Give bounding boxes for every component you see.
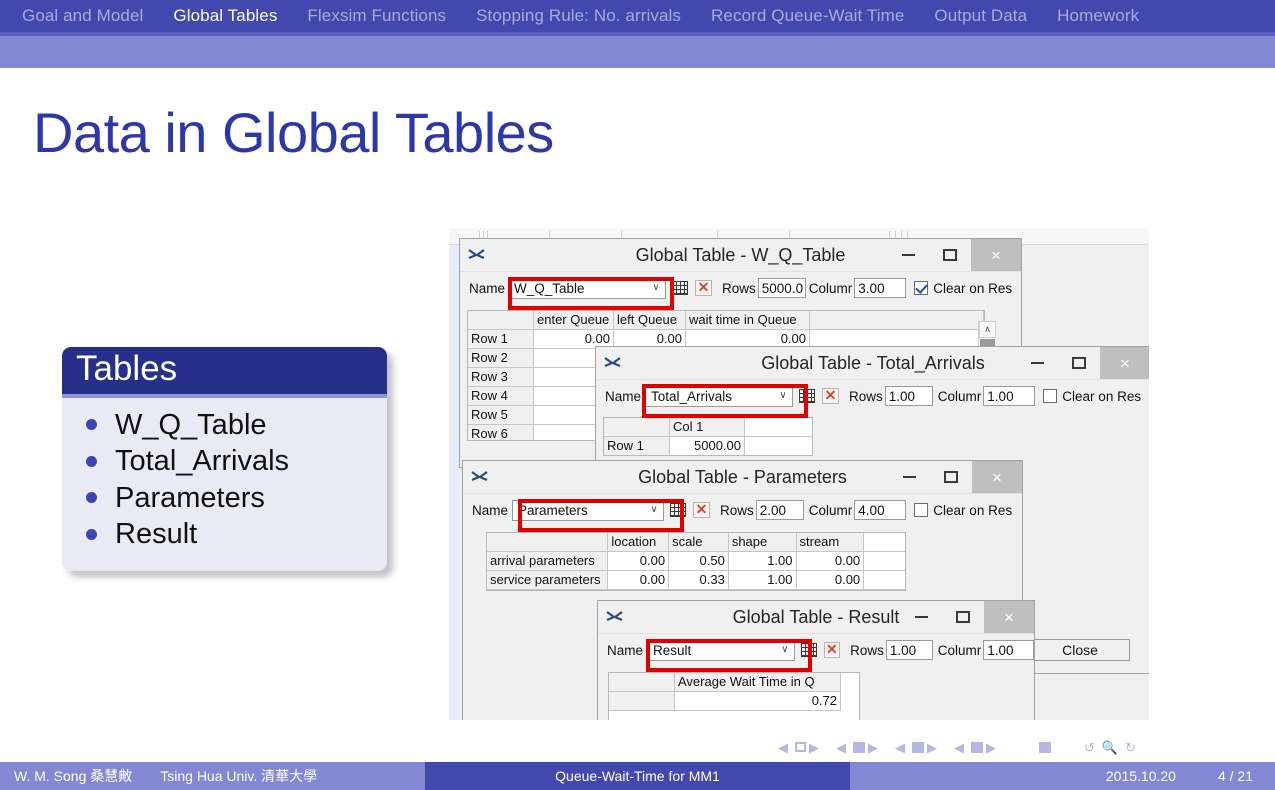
rows-label: Rows [850, 643, 884, 658]
table-cell[interactable]: 0.72 [675, 692, 841, 711]
close-icon[interactable]: × [984, 601, 1034, 633]
window-titlebar[interactable]: Global Table - W_Q_Table × [460, 239, 1021, 271]
columns-input[interactable]: 1.00 [983, 640, 1034, 660]
row-label: Row 1 [604, 437, 670, 456]
close-icon[interactable]: × [971, 239, 1021, 271]
row-label: Row 4 [468, 387, 534, 406]
prev-slide-icon[interactable]: ◀ [778, 741, 788, 754]
close-icon[interactable]: × [972, 461, 1022, 493]
flexsim-app-icon [468, 247, 486, 261]
clear-on-reset-checkbox[interactable] [1043, 389, 1057, 403]
section-icon[interactable] [971, 742, 983, 753]
tables-block-heading: Tables [62, 347, 387, 394]
table-cell[interactable]: 0.00 [608, 552, 669, 571]
nav-item-goal-and-model[interactable]: Goal and Model [22, 6, 143, 26]
flexsim-app-icon [604, 355, 622, 369]
close-button[interactable]: Close [1030, 639, 1130, 661]
table-grid-icon[interactable] [672, 281, 688, 295]
list-item-label: Result [115, 518, 197, 550]
clear-on-reset-checkbox[interactable] [914, 281, 928, 295]
table-cell[interactable]: 5000.00 [670, 437, 745, 456]
table-grid-icon[interactable] [670, 503, 686, 517]
table-row[interactable]: Row 1 5000.00 [604, 437, 812, 456]
nav-item-record-queue-wait-time[interactable]: Record Queue-Wait Time [711, 6, 904, 26]
table-cell[interactable]: 1.00 [729, 552, 797, 571]
nav-item-global-tables[interactable]: Global Tables [173, 6, 277, 26]
name-label: Name [469, 281, 505, 296]
tables-block: Tables W_Q_Table Total_Arrivals Paramete… [62, 347, 387, 571]
slide-icon[interactable] [795, 742, 806, 752]
columns-label: Columr [809, 281, 853, 296]
minimize-button[interactable] [900, 601, 942, 633]
window-titlebar[interactable]: Global Table - Result × [598, 601, 1034, 633]
rows-input[interactable]: 2.00 [756, 500, 804, 520]
minimize-button[interactable] [1016, 347, 1058, 379]
next-slide-icon[interactable]: ▶ [809, 741, 819, 754]
columns-label: Columr [809, 503, 853, 518]
row-label: Row 6 [468, 425, 534, 441]
table-cell[interactable]: 0.33 [669, 571, 729, 590]
table-grid-parameters[interactable]: location scale shape stream arrival para… [486, 532, 906, 591]
window-toolbar: Name Result ∨ ✕ Rows 1.00 Columr 1.00 [598, 633, 1034, 666]
maximize-button[interactable] [929, 239, 971, 271]
column-header: location [608, 533, 669, 552]
list-item: Total_Arrivals [72, 445, 377, 477]
flexsim-app-icon [606, 609, 624, 623]
minimize-button[interactable] [888, 461, 930, 493]
table-grid-icon[interactable] [801, 643, 817, 657]
window-titlebar[interactable]: Global Table - Parameters × [463, 461, 1022, 493]
back-icon[interactable]: ↺ [1084, 741, 1095, 754]
maximize-button[interactable] [942, 601, 984, 633]
column-header: enter Queue [534, 311, 614, 330]
row-label: Row 5 [468, 406, 534, 425]
window-toolbar: Name Parameters ∨ ✕ Rows 2.00 Columr 4.0… [463, 493, 1022, 526]
row-label: arrival parameters [487, 552, 608, 571]
table-cell[interactable]: 1.00 [729, 571, 797, 590]
clear-on-reset-label: Clear on Res [933, 281, 1012, 296]
column-header: left Queue [614, 311, 686, 330]
columns-input[interactable]: 4.00 [854, 500, 906, 520]
forward-icon[interactable]: ↻ [1125, 741, 1136, 754]
footer-author: W. M. Song 桑慧敟 [14, 766, 132, 786]
chevron-down-icon: ∨ [774, 391, 792, 401]
footer-page-number: 4 / 21 [1218, 768, 1253, 784]
column-header: wait time in Queue [686, 311, 810, 330]
close-icon[interactable]: × [1100, 347, 1149, 379]
footer-subject-section: Queue-Wait-Time for MM1 [425, 762, 850, 790]
rows-input[interactable]: 1.00 [886, 640, 933, 660]
window-controls: × [900, 601, 1034, 633]
list-item: Parameters [72, 482, 377, 514]
subsection-icon[interactable] [912, 742, 924, 753]
row-label: Row 1 [468, 330, 534, 349]
rows-label: Rows [722, 281, 756, 296]
list-item: W_Q_Table [72, 409, 377, 441]
columns-input[interactable]: 1.00 [983, 386, 1035, 406]
flexsim-screenshot: Global Table - W_Q_Table × Name W_Q_Tabl… [449, 228, 1149, 720]
table-cell[interactable]: 0.00 [797, 571, 865, 590]
name-label: Name [472, 503, 508, 518]
list-item-label: Parameters [115, 482, 265, 514]
rows-input[interactable]: 1.00 [885, 386, 933, 406]
window-toolbar: Name Total_Arrivals ∨ ✕ Rows 1.00 Columr… [596, 379, 1149, 412]
prev-section-icon[interactable]: ◀ [954, 741, 964, 754]
table-row[interactable] [609, 711, 859, 720]
name-label: Name [605, 389, 641, 404]
maximize-button[interactable] [1058, 347, 1100, 379]
delete-table-icon[interactable]: ✕ [695, 280, 712, 296]
table-row[interactable]: 0.72 [609, 692, 859, 711]
table-cell[interactable]: 0.00 [608, 571, 669, 590]
chevron-down-icon: ∨ [645, 505, 663, 515]
clear-on-reset-checkbox[interactable] [914, 503, 928, 517]
table-cell[interactable]: 0.50 [669, 552, 729, 571]
list-item-label: W_Q_Table [115, 409, 267, 441]
table-name-select[interactable]: W_Q_Table ∨ [508, 278, 666, 299]
bullet-icon [86, 529, 97, 540]
window-controls: × [888, 461, 1022, 493]
window-controls: × [1016, 347, 1149, 379]
table-header-row: Average Wait Time in Q [609, 673, 859, 692]
row-label: Row 2 [468, 349, 534, 368]
delete-table-icon[interactable]: ✕ [824, 642, 841, 658]
column-header: shape [729, 533, 797, 552]
flexsim-app-icon [471, 469, 489, 483]
row-label: service parameters [487, 571, 608, 590]
next-section-icon[interactable]: ▶ [986, 741, 996, 754]
clear-on-reset-label: Clear on Res [933, 503, 1012, 518]
prev-subsection-icon[interactable]: ◀ [895, 741, 905, 754]
footer-meta-section: 2015.10.20 4 / 21 [850, 762, 1275, 790]
footer-institute: Tsing Hua Univ. 清華大學 [160, 766, 317, 786]
footer-bar: W. M. Song 桑慧敟 Tsing Hua Univ. 清華大學 Queu… [0, 762, 1275, 790]
window-toolbar: Name W_Q_Table ∨ ✕ Rows 5000.0 Columr 3.… [460, 271, 1021, 304]
frames-icon[interactable] [853, 742, 865, 753]
table-header-row: Col 1 [604, 418, 812, 437]
table-cell[interactable]: 0.00 [797, 552, 865, 571]
tables-block-body: W_Q_Table Total_Arrivals Parameters Resu… [62, 398, 387, 571]
chevron-down-icon: ∨ [647, 283, 665, 293]
footer-author-section: W. M. Song 桑慧敟 Tsing Hua Univ. 清華大學 [0, 762, 425, 790]
navigation-band [0, 36, 1275, 68]
nav-item-homework[interactable]: Homework [1057, 6, 1139, 26]
table-row[interactable]: service parameters 0.00 0.33 1.00 0.00 [487, 571, 905, 590]
delete-table-icon[interactable]: ✕ [693, 502, 710, 518]
document-icon[interactable] [1039, 742, 1051, 753]
nav-item-flexsim-functions[interactable]: Flexsim Functions [307, 6, 446, 26]
table-name-select[interactable]: Result ∨ [647, 640, 795, 661]
prev-frame-icon[interactable]: ◀ [836, 741, 846, 754]
column-header: Average Wait Time in Q [675, 673, 841, 692]
table-header-row: location scale shape stream [487, 533, 905, 552]
next-frame-icon[interactable]: ▶ [868, 741, 878, 754]
footer-date: 2015.10.20 [1106, 768, 1176, 784]
columns-label: Columr [938, 643, 982, 658]
bullet-icon [86, 492, 97, 503]
rows-label: Rows [849, 389, 883, 404]
rows-input[interactable]: 5000.0 [758, 278, 806, 298]
bullet-icon [86, 456, 97, 467]
nav-item-stopping-rule[interactable]: Stopping Rule: No. arrivals [476, 6, 681, 26]
beamer-navigation-symbols: ◀ ▶ ◀ ▶ ◀ ▶ ◀ ▶ ↺ 🔍 ↻ [778, 736, 1198, 758]
table-header-row: enter Queue left Queue wait time in Queu… [468, 311, 984, 330]
rows-label: Rows [720, 503, 754, 518]
delete-table-icon[interactable]: ✕ [822, 388, 839, 404]
scroll-up-icon[interactable]: ∧ [979, 321, 996, 338]
nav-item-output-data[interactable]: Output Data [934, 6, 1027, 26]
list-item-label: Total_Arrivals [115, 445, 289, 477]
minimize-button[interactable] [887, 239, 929, 271]
bullet-icon [86, 419, 97, 430]
table-grid-total-arrivals[interactable]: Col 1 Row 1 5000.00 [603, 417, 813, 456]
column-header: stream [797, 533, 865, 552]
window-titlebar[interactable]: Global Table - Total_Arrivals × [596, 347, 1149, 379]
next-subsection-icon[interactable]: ▶ [927, 741, 937, 754]
table-name-select[interactable]: Total_Arrivals ∨ [645, 386, 793, 407]
chevron-down-icon: ∨ [776, 645, 794, 655]
table-grid-result[interactable]: Average Wait Time in Q 0.72 [608, 672, 860, 720]
list-item: Result [72, 518, 377, 550]
name-label: Name [607, 643, 643, 658]
maximize-button[interactable] [930, 461, 972, 493]
top-navigation-bar: Goal and Model Global Tables Flexsim Fun… [0, 0, 1275, 32]
columns-input[interactable]: 3.00 [854, 278, 906, 298]
columns-label: Columr [938, 389, 982, 404]
column-header: scale [669, 533, 729, 552]
window-controls: × [887, 239, 1021, 271]
window-result[interactable]: Global Table - Result × Name Result ∨ ✕ … [597, 600, 1035, 720]
table-name-select[interactable]: Parameters ∨ [512, 500, 664, 521]
search-icon[interactable]: 🔍 [1102, 741, 1118, 754]
footer-subject: Queue-Wait-Time for MM1 [555, 768, 720, 784]
table-row[interactable]: arrival parameters 0.00 0.50 1.00 0.00 [487, 552, 905, 571]
table-grid-icon[interactable] [799, 389, 815, 403]
column-header: Col 1 [670, 418, 745, 437]
row-label [609, 692, 675, 711]
row-label: Row 3 [468, 368, 534, 387]
page-title: Data in Global Tables [33, 100, 554, 165]
clear-on-reset-label: Clear on Res [1062, 389, 1141, 404]
